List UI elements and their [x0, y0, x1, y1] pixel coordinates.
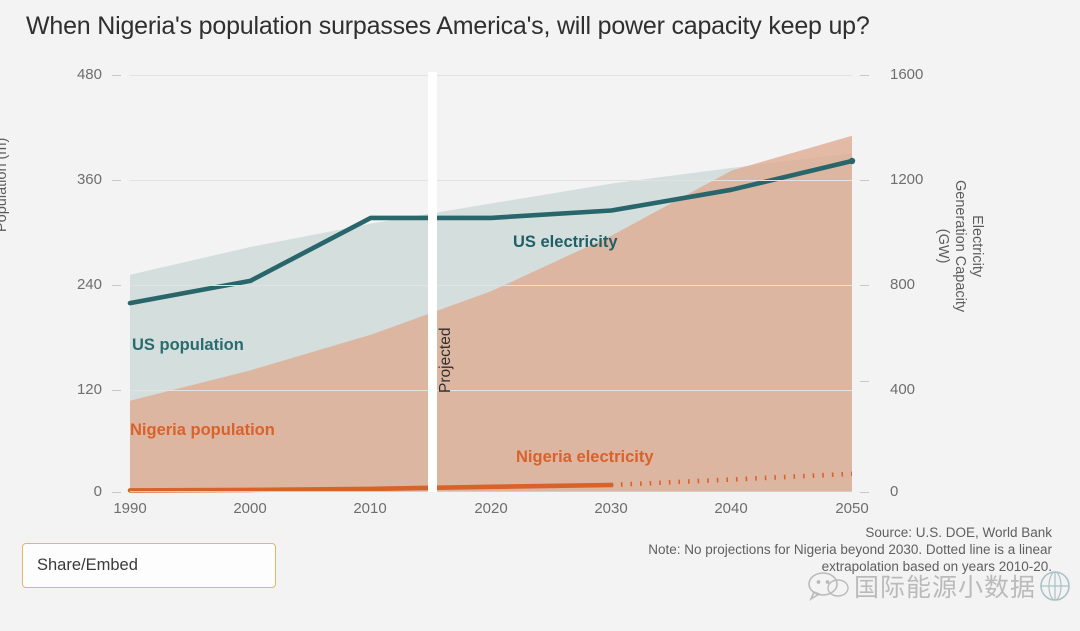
x-tick-2040: 2040 [696, 500, 766, 517]
note-text: Note: No projections for Nigeria beyond … [632, 541, 1052, 575]
projection-divider [428, 72, 437, 492]
y-tick-right-1200: 1200 [890, 171, 950, 188]
y-tick-right-0: 0 [890, 483, 950, 500]
gridline-360 [130, 180, 852, 181]
series-label-us-population: US population [132, 336, 244, 355]
y-tick-right-400: 400 [890, 381, 950, 398]
y-tick-mark-left-240 [112, 285, 121, 286]
x-tick-2050: 2050 [817, 500, 887, 517]
x-tick-2010: 2010 [335, 500, 405, 517]
y-tick-mark-left-120 [112, 390, 121, 391]
y-axis-right-title-line1: Electricity [969, 215, 985, 277]
x-axis-baseline [130, 491, 852, 492]
y-axis-right-title-line3: (GW) [935, 229, 951, 264]
share-embed-label: Share/Embed [37, 556, 138, 575]
x-tick-2020: 2020 [456, 500, 526, 517]
y-tick-mark-right-0 [860, 492, 869, 493]
gridline-240 [130, 285, 852, 286]
wechat-bubble-icon [808, 571, 850, 601]
y-tick-mark-right-1200 [860, 180, 869, 181]
y-tick-right-1600: 1600 [890, 66, 950, 83]
share-embed-button[interactable]: Share/Embed [22, 543, 276, 588]
series-label-us-electricity: US electricity [513, 233, 618, 252]
series-label-nigeria-electricity: Nigeria electricity [516, 448, 654, 467]
x-tick-1990: 1990 [95, 500, 165, 517]
y-tick-mark-right-800 [860, 285, 869, 286]
page-title: When Nigeria's population surpasses Amer… [26, 12, 870, 41]
source-text: Source: U.S. DOE, World Bank [632, 524, 1052, 541]
y-tick-left-480: 480 [56, 66, 102, 83]
y-axis-right-title-line2: Generation Capacity [952, 180, 968, 312]
y-tick-left-120: 120 [56, 381, 102, 398]
x-tick-2000: 2000 [215, 500, 285, 517]
y-axis-left-title: Population (m) [0, 138, 10, 232]
y-tick-mark-left-360 [112, 180, 121, 181]
y-tick-mark-right-1600 [860, 75, 869, 76]
y-tick-right-800: 800 [890, 276, 950, 293]
series-label-nigeria-population: Nigeria population [130, 421, 275, 440]
y-tick-mark-right-400 [860, 381, 869, 382]
x-tick-2030: 2030 [576, 500, 646, 517]
gridline-480 [130, 75, 852, 76]
y-tick-left-240: 240 [56, 276, 102, 293]
y-tick-left-360: 360 [56, 171, 102, 188]
source-note-block: Source: U.S. DOE, World Bank Note: No pr… [632, 524, 1052, 575]
marker-us-electricity-2050 [849, 158, 855, 164]
y-tick-mark-left-480 [112, 75, 121, 76]
y-tick-left-0: 0 [56, 483, 102, 500]
projected-label: Projected [437, 328, 455, 393]
gridline-120 [130, 390, 852, 391]
y-tick-mark-left-0 [112, 492, 121, 493]
